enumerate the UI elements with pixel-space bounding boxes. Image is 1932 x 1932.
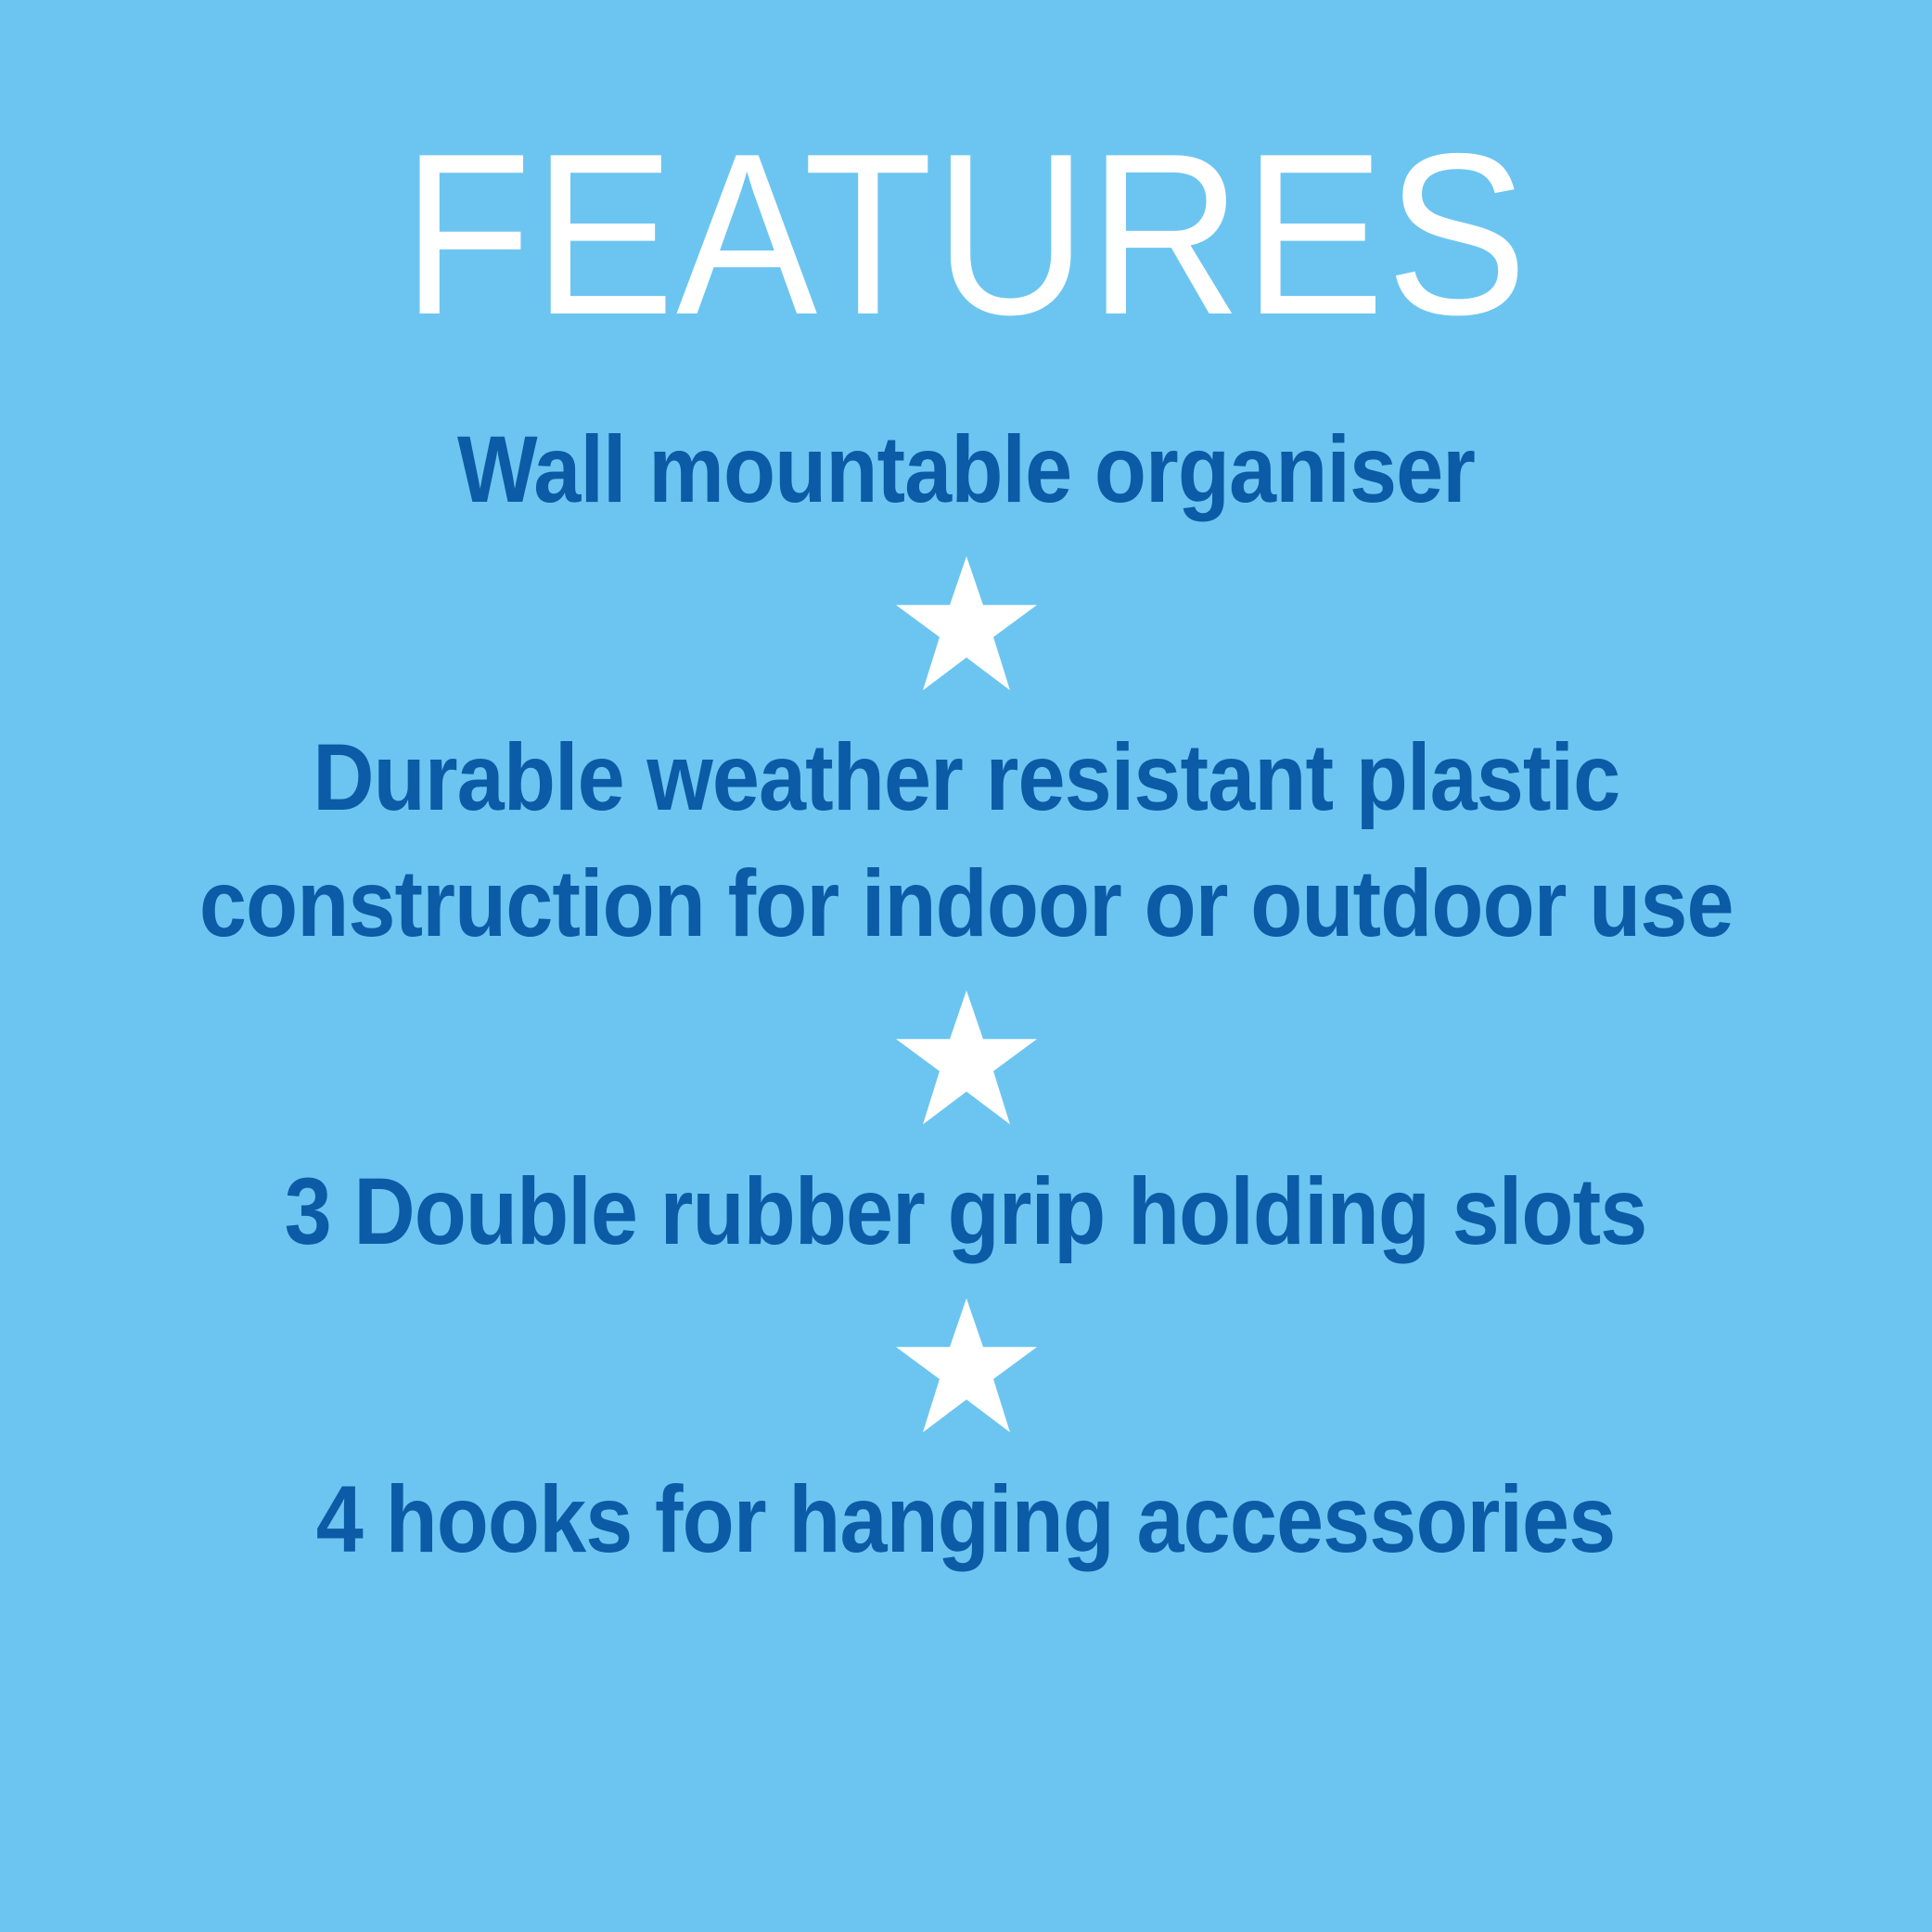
feature-line: 3 Double rubber grip holding slots [285,1148,1647,1274]
star-icon [896,556,1037,691]
separator-2 [896,966,1037,1148]
separator-3 [896,1274,1037,1456]
feature-item-2: Durable weather resistant plastic constr… [0,714,1932,966]
star-icon [896,990,1037,1125]
feature-list: Wall mountable organiser Durable weather… [0,406,1932,1582]
feature-item-4: 4 hooks for hanging accessories [0,1456,1932,1582]
features-poster: FEATURES Wall mountable organiser Durabl… [0,0,1932,1932]
feature-line: 4 hooks for hanging accessories [316,1456,1616,1582]
feature-line: Wall mountable organiser [457,406,1475,532]
feature-line: construction for indoor or outdoor use [199,840,1734,966]
feature-item-3: 3 Double rubber grip holding slots [0,1148,1932,1274]
star-icon [896,1298,1037,1433]
feature-item-1: Wall mountable organiser [0,406,1932,532]
feature-line: Durable weather resistant plastic [313,714,1619,840]
page-title: FEATURES [403,113,1529,354]
separator-1 [896,532,1037,714]
